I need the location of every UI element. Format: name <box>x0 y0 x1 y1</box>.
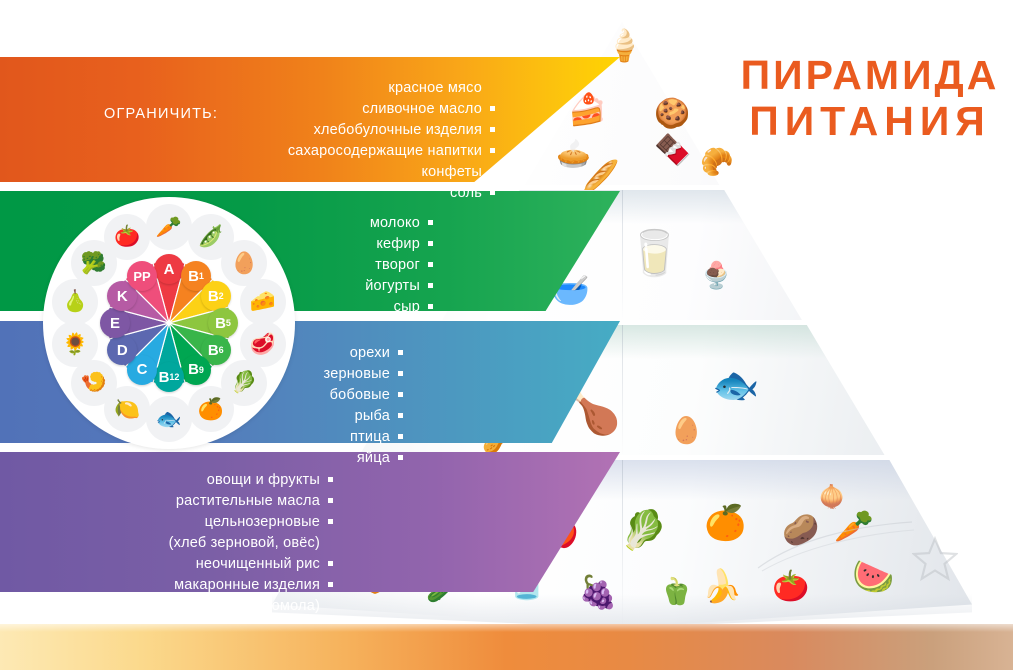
list-item-label: макаронные изделия <box>174 577 320 593</box>
vitamin-subscript: 9 <box>199 365 204 375</box>
nutrition-pyramid-poster: 🍦 🍰 🍪 🍫 🥐 🥧 🥖 🧀 🟨 🥣 🥛 🍨 🌰 🫛 <box>0 0 1013 670</box>
bullet-spacer <box>328 603 333 608</box>
list-item-label: бобовые <box>330 387 390 403</box>
list-item: макаронные изделия <box>169 575 333 596</box>
bullet-square-icon <box>328 477 333 482</box>
base-item-list: овощи и фруктырастительные маслацельнозе… <box>129 470 333 617</box>
vitamin-label: C <box>137 361 148 378</box>
food-bell-pepper: 🫑 <box>660 578 692 604</box>
bullet-square-icon <box>490 190 495 195</box>
vitamin-label: PP <box>133 269 150 284</box>
vitamin-pill: B9 <box>181 355 211 385</box>
list-item: сыр <box>365 297 433 318</box>
bullet-spacer <box>328 540 333 545</box>
vitamin-label: B <box>159 369 170 386</box>
list-item: птица <box>324 427 403 448</box>
vitamin-sources-wheel: ИСТОЧНИКИ ВИТАМИНОВ AB1B2B5B6B9B12CDEKPP… <box>43 197 295 449</box>
vitamin-pill: E <box>100 308 130 338</box>
list-item: овощи и фрукты <box>169 470 333 491</box>
bullet-spacer <box>490 85 495 90</box>
food-cookies: 🍪 <box>654 100 690 129</box>
list-item: молоко <box>365 213 433 234</box>
limit-label: ОГРАНИЧИТЬ: <box>104 106 218 122</box>
vitamin-pill: B2 <box>201 281 231 311</box>
list-item-label: овощи и фрукты <box>207 472 320 488</box>
list-item-label: красное мясо <box>388 80 482 96</box>
list-item-label: неочищенный рис <box>196 556 320 572</box>
list-item: кефир <box>365 234 433 255</box>
vitamin-food-icon: 🐟 <box>146 396 192 442</box>
list-item-label: зерновые <box>324 366 390 382</box>
tier-protein-seam <box>622 325 623 455</box>
vitamin-label: B <box>215 315 226 332</box>
vitamin-label: B <box>188 268 199 285</box>
list-item-label: кефир <box>376 236 420 252</box>
list-item: (хлеб зерновой, овёс) <box>169 533 333 554</box>
swoosh-decoration <box>756 518 916 572</box>
vitamin-food-icon: 🧀 <box>240 279 286 325</box>
food-tomatoes: 🍅 <box>772 572 809 602</box>
bullet-square-icon <box>428 262 433 267</box>
food-milk-jug: 🥛 <box>627 232 682 276</box>
list-item: растительные масла <box>169 491 333 512</box>
food-boiled-egg: 🥚 <box>670 417 702 443</box>
list-item: рыба <box>324 406 403 427</box>
vitamin-subscript: 5 <box>226 318 231 328</box>
list-item: соль <box>288 183 495 204</box>
bullet-square-icon <box>398 371 403 376</box>
list-item: сахаросодержащие напитки <box>288 141 495 162</box>
vitamin-label: E <box>110 315 120 332</box>
bullet-square-icon <box>398 455 403 460</box>
page-title: ПИРАМИДА ПИТАНИЯ <box>735 52 1005 144</box>
list-item-label: конфеты <box>421 164 482 180</box>
list-item-label: (грубого помола) <box>203 598 320 614</box>
list-item-label: цельнозерновые <box>205 514 320 530</box>
food-lettuce: 🥬 <box>620 512 667 550</box>
vitamin-label: B <box>188 361 199 378</box>
limit-item-list: красное мясосливочное маслохлебобулочные… <box>248 78 495 204</box>
list-item: неочищенный рис <box>169 554 333 575</box>
food-onion: 🧅 <box>818 486 845 508</box>
list-item-label: растительные масла <box>176 493 320 509</box>
food-orange: 🍊 <box>704 506 746 540</box>
vitamin-subscript: 2 <box>219 291 224 301</box>
list-item-label: сахаросодержащие напитки <box>288 143 482 159</box>
bullet-square-icon <box>428 283 433 288</box>
bullet-square-icon <box>490 148 495 153</box>
bullet-square-icon <box>490 169 495 174</box>
food-salmon-steak: 🐟 <box>712 367 759 405</box>
vitamin-pill: B5 <box>208 308 238 338</box>
vitamin-pill: B12 <box>154 362 184 392</box>
list-item: творог <box>365 255 433 276</box>
list-item: хлебобулочные изделия <box>288 120 495 141</box>
bullet-square-icon <box>328 582 333 587</box>
bullet-square-icon <box>428 304 433 309</box>
list-item-label: соль <box>450 185 482 201</box>
list-item-label: сливочное масло <box>362 101 482 117</box>
vitamin-label: B <box>208 342 219 359</box>
list-item: красное мясо <box>288 78 495 99</box>
bullet-square-icon <box>490 106 495 111</box>
vitamin-label: A <box>164 261 175 278</box>
list-item: йогурты <box>365 276 433 297</box>
bullet-square-icon <box>428 220 433 225</box>
tier-dairy-seam <box>622 190 623 320</box>
bullet-square-icon <box>328 561 333 566</box>
list-item-label: йогурты <box>365 278 420 294</box>
list-item: зерновые <box>324 364 403 385</box>
vitamin-pill: A <box>154 254 184 284</box>
vitamin-subscript: 1 <box>199 271 204 281</box>
vitamin-subscript: 12 <box>169 372 179 382</box>
list-item-label: молоко <box>370 215 420 231</box>
bullet-square-icon <box>398 413 403 418</box>
list-item: (грубого помола) <box>169 596 333 617</box>
vitamin-label: D <box>117 342 128 359</box>
bullet-square-icon <box>398 392 403 397</box>
bullet-square-icon <box>428 241 433 246</box>
bullet-square-icon <box>328 498 333 503</box>
list-item-label: (хлеб зерновой, овёс) <box>169 535 320 551</box>
tier-base-bottom-fold <box>272 594 972 628</box>
protein-item-list: орехизерновыебобовыерыбаптицаяйца <box>284 343 403 469</box>
vitamin-label: B <box>208 288 219 305</box>
list-item-label: рыба <box>355 408 390 424</box>
list-item-label: сыр <box>394 299 420 315</box>
list-item-label: творог <box>375 257 420 273</box>
vitamin-label: K <box>117 288 128 305</box>
list-item: цельнозерновые <box>169 512 333 533</box>
bullet-square-icon <box>398 434 403 439</box>
bullet-square-icon <box>398 350 403 355</box>
list-item: яйца <box>324 448 403 469</box>
list-item-label: орехи <box>350 345 390 361</box>
title-line-2: ПИТАНИЯ <box>735 98 1005 144</box>
list-item: сливочное масло <box>288 99 495 120</box>
list-item: конфеты <box>288 162 495 183</box>
vitamin-food-icon: 🍅 <box>104 214 150 260</box>
list-item-label: яйца <box>357 450 390 466</box>
list-item: бобовые <box>324 385 403 406</box>
star-watermark-icon <box>912 536 958 582</box>
bullet-square-icon <box>490 127 495 132</box>
list-item: орехи <box>324 343 403 364</box>
food-chocolate-bar: 🍫 <box>654 136 691 166</box>
food-pastry-roll: 🥐 <box>700 149 734 176</box>
footer-gradient-strip <box>0 624 1013 670</box>
list-item-label: хлебобулочные изделия <box>314 122 482 138</box>
bullet-square-icon <box>328 519 333 524</box>
title-line-1: ПИРАМИДА <box>735 52 1005 98</box>
food-yogurt-cup: 🍨 <box>700 262 732 288</box>
vitamin-food-icon: 🍊 <box>188 386 234 432</box>
dairy-item-list: молококефиртворогйогуртысыр <box>325 213 433 318</box>
vitamin-subscript: 6 <box>219 345 224 355</box>
vitamin-food-icon: 🥕 <box>146 204 192 250</box>
list-item-label: птица <box>350 429 390 445</box>
food-bananas: 🍌 <box>702 570 742 602</box>
